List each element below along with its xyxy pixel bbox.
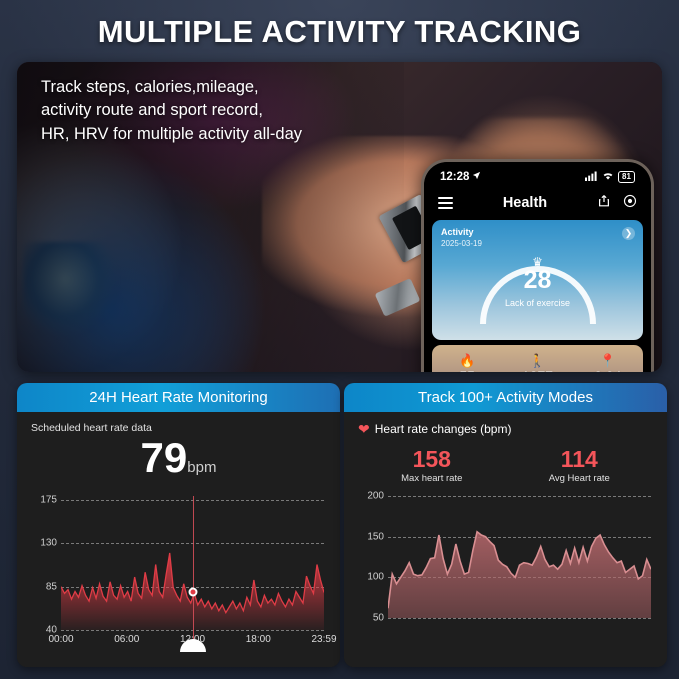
x-tick-label: 06:00 bbox=[114, 634, 139, 645]
chart-right-y-axis: 20015010050 bbox=[358, 496, 384, 618]
current-bpm: 79bpm bbox=[31, 436, 326, 490]
panel-right-body: ❤ Heart rate changes (bpm) 158 Max heart… bbox=[344, 412, 667, 667]
phone-status-bar: 12:28 bbox=[424, 162, 651, 188]
activity-stats-card: 🔥 55 Kcal 🚶 1377 Steps 📍 0.94 Km bbox=[432, 345, 643, 372]
hr-metrics: 158 Max heart rate 114 Avg Heart rate bbox=[358, 446, 653, 484]
activity-card-title: Activity bbox=[441, 227, 474, 237]
metric-avg-hr: 114 Avg Heart rate bbox=[506, 446, 654, 484]
page-title: MULTIPLE ACTIVITY TRACKING bbox=[0, 0, 679, 47]
y-tick-label: 100 bbox=[367, 572, 384, 583]
location-pin-icon: 📍 bbox=[573, 353, 643, 368]
chart-cursor-dot[interactable] bbox=[188, 588, 197, 597]
hamburger-menu-icon[interactable] bbox=[438, 197, 453, 208]
chevron-right-icon[interactable]: ❯ bbox=[622, 227, 635, 240]
hr-changes-title: ❤ Heart rate changes (bpm) bbox=[358, 422, 653, 436]
current-bpm-value: 79 bbox=[141, 434, 188, 481]
target-icon[interactable] bbox=[623, 194, 637, 213]
location-arrow-icon bbox=[472, 171, 481, 183]
phone-navbar: Health bbox=[424, 188, 651, 218]
y-tick-label: 200 bbox=[367, 491, 384, 502]
avg-hr-value: 114 bbox=[506, 446, 654, 472]
wifi-icon bbox=[602, 171, 614, 184]
y-tick-label: 175 bbox=[40, 495, 57, 506]
share-icon[interactable] bbox=[597, 194, 611, 213]
stat-steps-value: 1377 bbox=[502, 368, 572, 372]
heart-icon: ❤ bbox=[358, 422, 370, 436]
chart-right-plot bbox=[388, 496, 651, 618]
stat-steps: 🚶 1377 Steps bbox=[502, 353, 572, 372]
activity-score: 28 bbox=[524, 268, 552, 293]
y-tick-label: 85 bbox=[46, 581, 57, 592]
phone-app-title: Health bbox=[503, 195, 547, 211]
x-tick-label: 23:59 bbox=[311, 634, 336, 645]
metric-max-hr: 158 Max heart rate bbox=[358, 446, 506, 484]
daily-heart-rate-chart: 1751308540 00:0006:0012:0018:0023:59 bbox=[31, 500, 326, 630]
stat-kcal: 🔥 55 Kcal bbox=[432, 353, 502, 372]
stat-kcal-value: 55 bbox=[432, 368, 502, 372]
max-hr-value: 158 bbox=[358, 446, 506, 472]
current-bpm-unit: bpm bbox=[187, 459, 216, 476]
chart-cursor-line[interactable] bbox=[193, 496, 194, 648]
promo-page: MULTIPLE ACTIVITY TRACKING Track steps, … bbox=[0, 0, 679, 679]
max-hr-label: Max heart rate bbox=[358, 473, 506, 484]
hr-changes-label: Heart rate changes (bpm) bbox=[375, 422, 512, 436]
gridline bbox=[388, 618, 651, 619]
panel-left-header: 24H Heart Rate Monitoring bbox=[17, 383, 340, 412]
x-tick-label: 18:00 bbox=[246, 634, 271, 645]
cellular-signal-icon bbox=[585, 171, 598, 184]
panel-activity-modes: Track 100+ Activity Modes ❤ Heart rate c… bbox=[344, 383, 667, 667]
flame-icon: 🔥 bbox=[432, 353, 502, 368]
navbar-actions bbox=[597, 194, 637, 213]
hero-banner: Track steps, calories,mileage, activity … bbox=[17, 62, 662, 372]
y-tick-label: 150 bbox=[367, 531, 384, 542]
scheduled-hr-label: Scheduled heart rate data bbox=[31, 422, 326, 434]
chart-left-plot bbox=[61, 500, 324, 630]
activity-card[interactable]: Activity 2025-03-19 ❯ ♛ 28 Lack of exerc… bbox=[432, 220, 643, 340]
status-time: 12:28 bbox=[440, 171, 469, 183]
stat-km-value: 0.94 bbox=[573, 368, 643, 372]
avg-hr-label: Avg Heart rate bbox=[506, 473, 654, 484]
status-right: 81 bbox=[585, 171, 635, 184]
panel-left-body: Scheduled heart rate data 79bpm 17513085… bbox=[17, 412, 340, 667]
chart-left-y-axis: 1751308540 bbox=[31, 500, 57, 630]
y-tick-label: 50 bbox=[373, 613, 384, 624]
activity-card-date: 2025-03-19 bbox=[441, 239, 482, 248]
activity-heart-rate-chart: 20015010050 bbox=[358, 496, 653, 618]
panel-right-header: Track 100+ Activity Modes bbox=[344, 383, 667, 412]
walking-icon: 🚶 bbox=[502, 353, 572, 368]
hero-overlay-text: Track steps, calories,mileage, activity … bbox=[41, 76, 371, 146]
phone-screen: 12:28 bbox=[424, 162, 651, 372]
battery-indicator: 81 bbox=[618, 171, 635, 183]
stat-km: 📍 0.94 Km bbox=[573, 353, 643, 372]
x-tick-label: 00:00 bbox=[48, 634, 73, 645]
y-tick-label: 130 bbox=[40, 538, 57, 549]
phone-mockup: 12:28 bbox=[421, 159, 654, 372]
activity-stats-row: 🔥 55 Kcal 🚶 1377 Steps 📍 0.94 Km bbox=[432, 345, 643, 372]
panel-heart-rate-monitoring: 24H Heart Rate Monitoring Scheduled hear… bbox=[17, 383, 340, 667]
status-left: 12:28 bbox=[440, 171, 481, 183]
activity-score-label: Lack of exercise bbox=[505, 298, 570, 308]
chart-area-fill bbox=[388, 532, 651, 618]
